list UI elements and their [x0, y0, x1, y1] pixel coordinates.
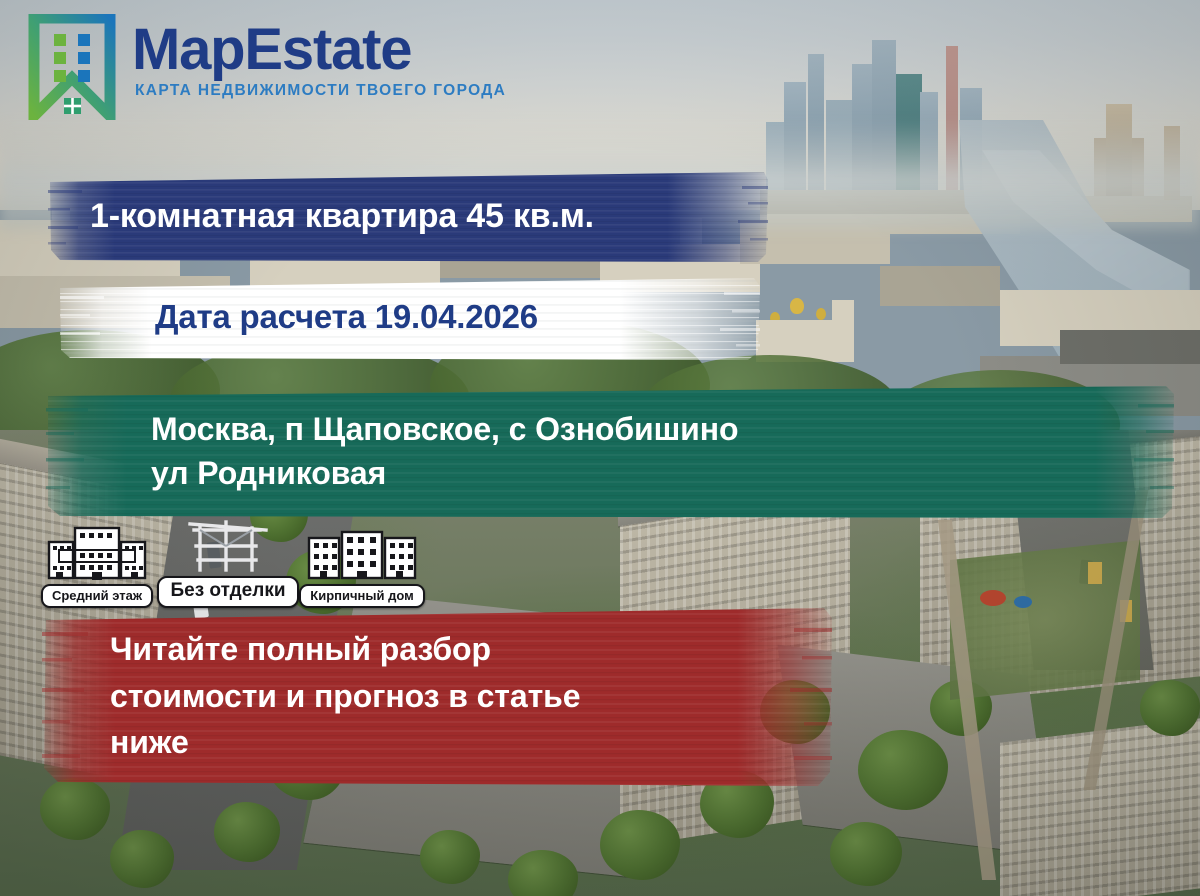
- bookmark-building-icon: [26, 14, 118, 120]
- cta-text: Читайте полный разбор стоимости и прогно…: [110, 626, 580, 765]
- feature-badges: Средний этаж: [38, 518, 424, 608]
- unfinished-frame-icon: [176, 518, 280, 574]
- brick-building-icon: [306, 526, 418, 582]
- address-text: Москва, п Щаповское, с Ознобишино ул Род…: [151, 407, 738, 495]
- brand-wordmark: MapEstate: [132, 22, 506, 77]
- mid-floor-building-icon: [45, 526, 149, 582]
- brand-wordmark-map: Map: [132, 17, 244, 82]
- promo-poster: MapEstate КАРТА НЕДВИЖИМОСТИ ТВОЕГО ГОРО…: [0, 0, 1200, 896]
- brand-logo[interactable]: MapEstate КАРТА НЕДВИЖИМОСТИ ТВОЕГО ГОРО…: [26, 14, 506, 120]
- date-text: Дата расчета 19.04.2026: [155, 298, 538, 336]
- brand-tagline: КАРТА НЕДВИЖИМОСТИ ТВОЕГО ГОРОДА: [135, 82, 506, 100]
- badge-label: Средний этаж: [41, 584, 153, 608]
- cta-banner: Читайте полный разбор стоимости и прогно…: [42, 604, 832, 788]
- title-banner: 1-комнатная квартира 45 кв.м.: [48, 168, 768, 264]
- date-banner: Дата расчета 19.04.2026: [60, 272, 760, 362]
- badge-label: Кирпичный дом: [299, 584, 424, 608]
- badge-mid-floor[interactable]: Средний этаж: [38, 526, 156, 608]
- title-text: 1-комнатная квартира 45 кв.м.: [90, 197, 594, 236]
- badge-label: Без отделки: [157, 576, 298, 608]
- address-banner: Москва, п Щаповское, с Ознобишино ул Род…: [46, 382, 1174, 520]
- badge-wall-material[interactable]: Кирпичный дом: [300, 526, 424, 608]
- badge-finishing[interactable]: Без отделки: [160, 518, 296, 608]
- brand-wordmark-estate: Estate: [244, 17, 411, 82]
